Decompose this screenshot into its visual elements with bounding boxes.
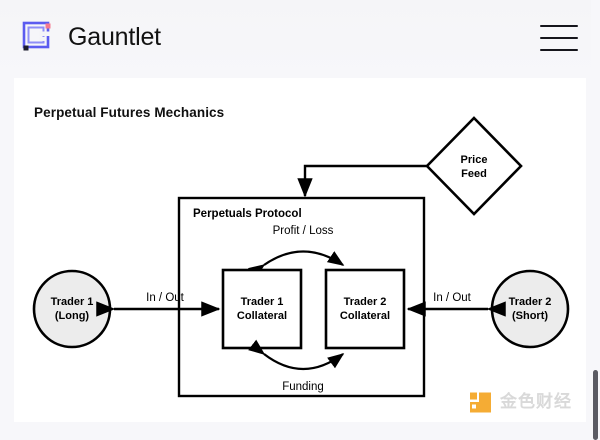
price-feed-node: Price Feed: [427, 118, 521, 214]
trader-2-line1: Trader 2: [509, 296, 552, 308]
trader-1-line2: (Long): [55, 310, 90, 322]
profit-loss-label: Profit / Loss: [273, 225, 334, 237]
trader-2-flow-label: In / Out: [433, 292, 472, 304]
page-scrollbar-thumb[interactable]: [593, 370, 598, 440]
trader-1-flow-label: In / Out: [146, 292, 185, 304]
menu-line-2: [540, 37, 578, 39]
trader-2-line2: (Short): [512, 310, 548, 322]
brand[interactable]: Gauntlet: [20, 20, 161, 54]
funding-label: Funding: [282, 381, 324, 393]
jinse-finance-logo-icon: [469, 391, 492, 414]
menu-line-1: [540, 25, 578, 27]
price-feed-diamond: [427, 118, 521, 214]
trader-2-collateral-line2: Collateral: [340, 310, 390, 322]
trader-1-line1: Trader 1: [51, 296, 94, 308]
perpetual-futures-diagram: Price Feed Perpetuals Protocol Profit / …: [14, 78, 586, 422]
diagram-card: Perpetual Futures Mechanics Price Feed P…: [14, 78, 586, 422]
trader-1-collateral-node: Trader 1 Collateral: [223, 270, 301, 348]
trader-2-collateral-box: [326, 270, 404, 348]
trader-1-collateral-box: [223, 270, 301, 348]
app-header: Gauntlet: [0, 0, 600, 78]
trader-1-node: Trader 1 (Long): [34, 271, 110, 347]
perpetuals-protocol-title: Perpetuals Protocol: [193, 208, 302, 220]
trader-2-collateral-line1: Trader 2: [344, 296, 387, 308]
trader-2-node: Trader 2 (Short): [492, 271, 568, 347]
trader-1-collateral-line2: Collateral: [237, 310, 287, 322]
watermark-text: 金色财经: [500, 394, 572, 411]
trader-2-circle: [492, 271, 568, 347]
price-feed-label-line2: Feed: [461, 168, 487, 180]
gauntlet-g-logo-icon: [20, 20, 54, 54]
brand-title: Gauntlet: [68, 25, 161, 50]
price-feed-to-protocol-arrow: [305, 166, 427, 196]
trader-2-collateral-node: Trader 2 Collateral: [326, 270, 404, 348]
menu-line-3: [540, 49, 578, 51]
trader-1-collateral-line1: Trader 1: [241, 296, 284, 308]
page-scrollbar[interactable]: [591, 0, 600, 440]
watermark: 金色财经: [469, 391, 572, 414]
trader-1-circle: [34, 271, 110, 347]
hamburger-menu-icon[interactable]: [540, 22, 578, 54]
price-feed-label-line1: Price: [461, 154, 488, 166]
